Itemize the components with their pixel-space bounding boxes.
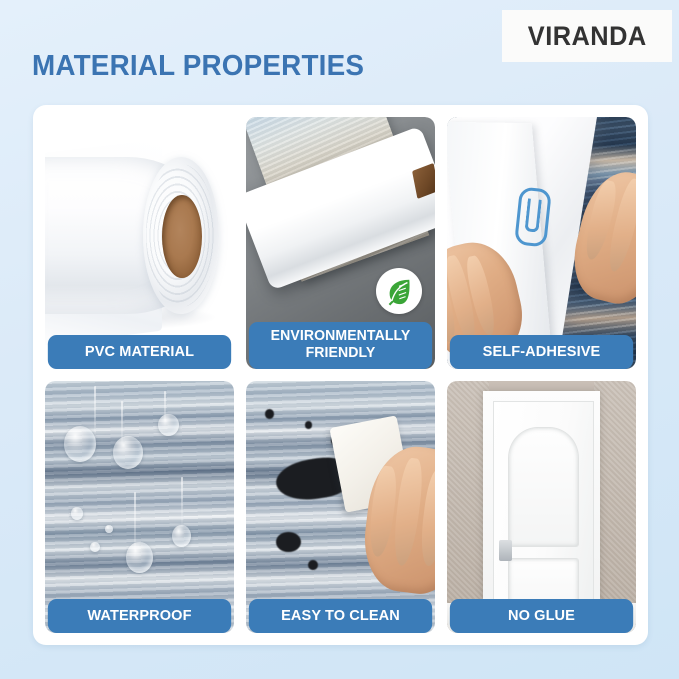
feature-label-easy-to-clean: EASY TO CLEAN <box>249 599 432 633</box>
brand-logo-box: VIRANDA <box>502 10 672 62</box>
feature-label-no-glue: NO GLUE <box>450 599 633 633</box>
feature-label-self-adhesive: SELF-ADHESIVE <box>450 335 633 369</box>
door-panel-top <box>508 427 579 547</box>
pvc-roll-image <box>45 117 234 369</box>
water-droplet <box>172 525 191 548</box>
environmentally-friendly-image: ENVIRONMENTALLY FRIENDLY <box>246 117 435 369</box>
stain-spot <box>305 421 313 429</box>
easy-to-clean-image <box>246 381 435 633</box>
feature-tile-self-adhesive[interactable]: SELF-ADHESIVE <box>447 117 636 369</box>
water-droplet <box>126 542 152 572</box>
eco-badge <box>376 268 422 314</box>
wall-right <box>594 381 636 633</box>
no-glue-image <box>447 381 636 633</box>
feature-label-waterproof: WATERPROOF <box>48 599 231 633</box>
finger <box>391 456 426 566</box>
feature-tile-pvc-material[interactable]: PVC MATERIAL <box>45 117 234 369</box>
water-droplet <box>71 507 82 520</box>
feature-label-line-2: FRIENDLY <box>251 345 430 362</box>
stain-spot <box>276 532 301 552</box>
roll-core <box>162 195 202 278</box>
brand-logo-text: VIRANDA <box>528 21 647 52</box>
droplet-trail <box>181 477 183 527</box>
features-card: PVC MATERIAL ENVIRONMENTALLY <box>33 105 648 645</box>
feature-tile-environmentally-friendly[interactable]: ENVIRONMENTALLY FRIENDLY <box>246 117 435 369</box>
paperclip-icon <box>514 186 552 247</box>
droplet-trail <box>94 386 96 441</box>
leaf-icon <box>384 276 414 306</box>
feature-label-pvc-material: PVC MATERIAL <box>48 335 231 369</box>
water-droplet <box>64 426 96 461</box>
feature-label-line-1: ENVIRONMENTALLY <box>251 328 430 345</box>
feature-label-environmentally-friendly: ENVIRONMENTALLY FRIENDLY <box>249 322 432 369</box>
stain-spot <box>308 560 317 570</box>
door-handle <box>499 540 512 561</box>
page-title: MATERIAL PROPERTIES <box>32 50 364 83</box>
door-frame <box>483 391 600 633</box>
features-grid: PVC MATERIAL ENVIRONMENTALLY <box>45 117 636 633</box>
stain-spot <box>265 409 274 419</box>
feature-tile-easy-to-clean[interactable]: EASY TO CLEAN <box>246 381 435 633</box>
waterproof-image <box>45 381 234 633</box>
feature-tile-waterproof[interactable]: WATERPROOF <box>45 381 234 633</box>
feature-tile-no-glue[interactable]: NO GLUE <box>447 381 636 633</box>
self-adhesive-image <box>447 117 636 369</box>
